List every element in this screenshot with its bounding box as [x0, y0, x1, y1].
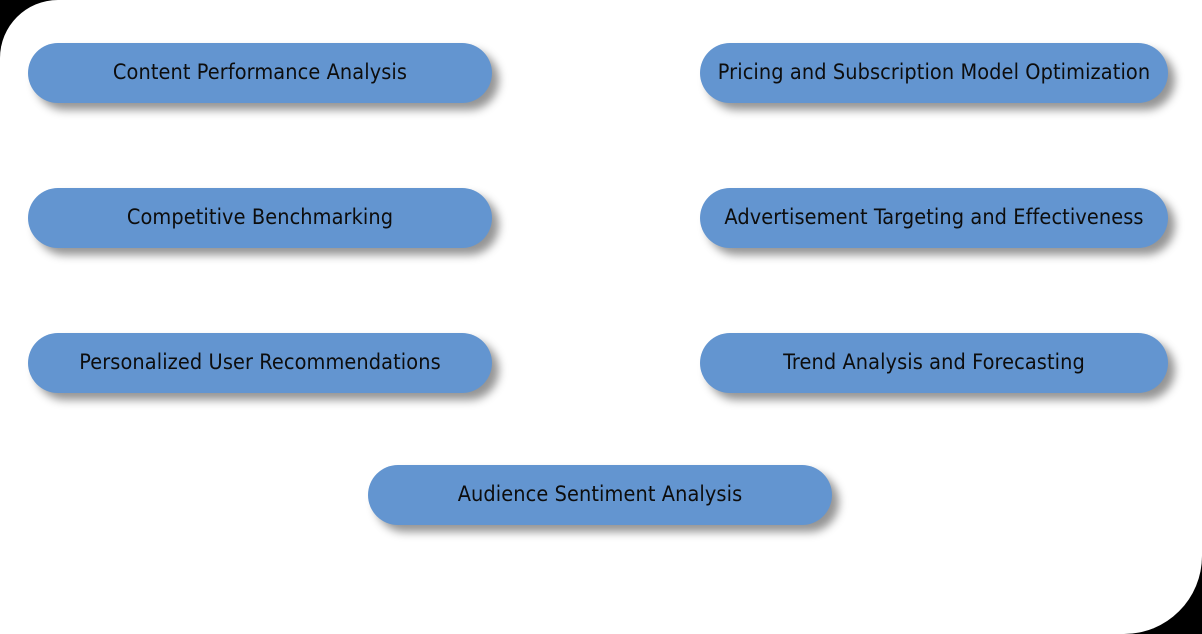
- pill-label: Content Performance Analysis: [99, 62, 421, 84]
- pill-label: Personalized User Recommendations: [65, 352, 455, 374]
- pill-pricing-and-subscription-model-optimization[interactable]: Pricing and Subscription Model Optimizat…: [700, 43, 1168, 103]
- pill-personalized-user-recommendations[interactable]: Personalized User Recommendations: [28, 333, 492, 393]
- pill-label: Advertisement Targeting and Effectivenes…: [710, 207, 1157, 229]
- pill-label: Pricing and Subscription Model Optimizat…: [704, 62, 1164, 84]
- diagram-canvas: Content Performance Analysis Pricing and…: [0, 0, 1202, 634]
- pill-content-performance-analysis[interactable]: Content Performance Analysis: [28, 43, 492, 103]
- pill-competitive-benchmarking[interactable]: Competitive Benchmarking: [28, 188, 492, 248]
- pill-advertisement-targeting-and-effectiveness[interactable]: Advertisement Targeting and Effectivenes…: [700, 188, 1168, 248]
- pill-label: Competitive Benchmarking: [113, 207, 407, 229]
- pill-label: Trend Analysis and Forecasting: [769, 352, 1099, 374]
- pill-trend-analysis-and-forecasting[interactable]: Trend Analysis and Forecasting: [700, 333, 1168, 393]
- pill-label: Audience Sentiment Analysis: [444, 484, 757, 506]
- pill-audience-sentiment-analysis[interactable]: Audience Sentiment Analysis: [368, 465, 832, 525]
